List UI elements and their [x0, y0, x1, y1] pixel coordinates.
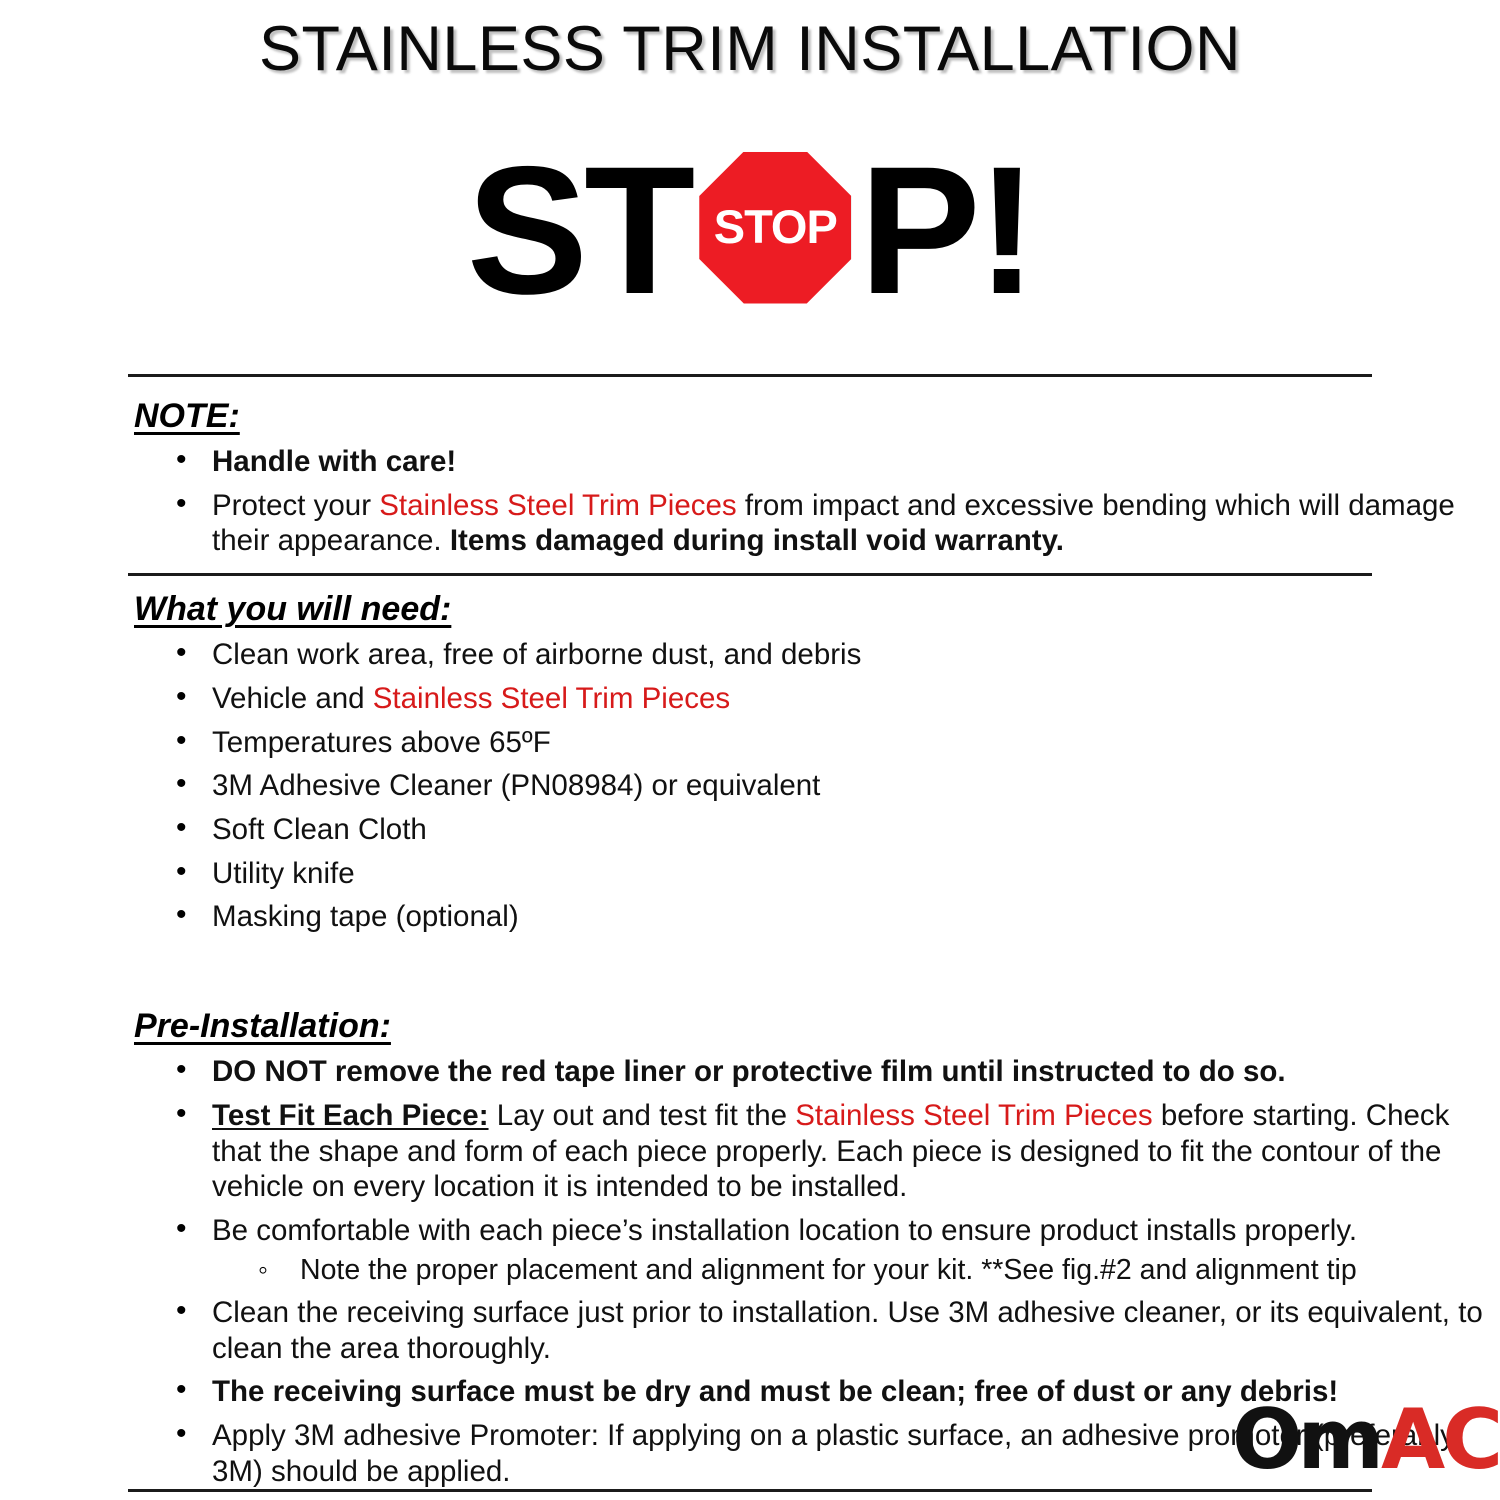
list-item: Masking tape (optional)	[0, 899, 1500, 935]
needs-section-header-row: What you will need:	[0, 590, 1500, 629]
list-item: Test Fit Each Piece: Lay out and test fi…	[0, 1098, 1500, 1205]
list-item: Handle with care!	[0, 444, 1500, 480]
list-item: Protect your Stainless Steel Trim Pieces…	[0, 488, 1500, 559]
text-run: Temperatures above 65ºF	[212, 726, 551, 759]
text-run: Protect your	[212, 489, 379, 522]
note-section-heading: NOTE:	[134, 397, 240, 436]
preinstall-sub-list: Note the proper placement and alignment …	[0, 1253, 1500, 1287]
preinstall-section-header-row: Pre-Installation:	[0, 1007, 1500, 1046]
list-item: Soft Clean Cloth	[0, 812, 1500, 848]
text-run: Vehicle and	[212, 682, 373, 715]
note-list: Handle with care!Protect your Stainless …	[0, 444, 1500, 559]
list-item: DO NOT remove the red tape liner or prot…	[0, 1054, 1500, 1090]
text-run: Items damaged during install void warran…	[450, 524, 1064, 557]
needs-list: Clean work area, free of airborne dust, …	[0, 637, 1500, 935]
list-item: 3M Adhesive Cleaner (PN08984) or equival…	[0, 768, 1500, 804]
document-body: NOTE: Handle with care!Protect your Stai…	[0, 397, 1500, 1490]
text-run: Stainless Steel Trim Pieces	[373, 682, 730, 715]
list-item: Utility knife	[0, 856, 1500, 892]
preinstall-section-heading: Pre-Installation:	[134, 1007, 391, 1046]
needs-section-heading: What you will need:	[134, 590, 451, 629]
text-run: Soft Clean Cloth	[212, 813, 427, 846]
stop-logo: ST STOP P!	[467, 143, 1034, 318]
divider-mid	[128, 573, 1372, 576]
list-item: Clean the receiving surface just prior t…	[0, 1295, 1500, 1366]
note-section-header-row: NOTE:	[0, 397, 1500, 436]
text-run: Note the proper placement and alignment …	[300, 1254, 1357, 1286]
text-run: Stainless Steel Trim Pieces	[379, 489, 736, 522]
stop-sign-icon: STOP	[699, 152, 851, 304]
stop-logo-banner: ST STOP P!	[0, 143, 1500, 318]
list-item: Be comfortable with each piece’s install…	[0, 1213, 1500, 1249]
omac-logo-dark-text: Om	[1232, 1406, 1379, 1474]
text-run: Test Fit Each Piece:	[212, 1099, 489, 1132]
omac-brand-logo: Om AC	[1232, 1406, 1500, 1474]
stop-logo-right-text: P!	[859, 146, 1033, 315]
sub-list-item: Note the proper placement and alignment …	[0, 1253, 1500, 1287]
list-item: Vehicle and Stainless Steel Trim Pieces	[0, 681, 1500, 717]
preinstall-list: DO NOT remove the red tape liner or prot…	[0, 1054, 1500, 1248]
divider-bottom	[128, 1489, 1372, 1492]
stop-logo-left-text: ST	[467, 146, 692, 315]
text-run: Masking tape (optional)	[212, 900, 519, 933]
text-run: Lay out and test fit the	[489, 1099, 796, 1132]
text-run: 3M Adhesive Cleaner (PN08984) or equival…	[212, 769, 820, 802]
text-run: Stainless Steel Trim Pieces	[795, 1099, 1152, 1132]
stop-sign-label: STOP	[714, 203, 837, 250]
page-title: STAINLESS TRIM INSTALLATION	[0, 0, 1500, 81]
omac-logo-red-text: AC	[1381, 1406, 1500, 1474]
text-run: The receiving surface must be dry and mu…	[212, 1375, 1338, 1408]
text-run: Handle with care!	[212, 445, 456, 478]
list-item: Clean work area, free of airborne dust, …	[0, 637, 1500, 673]
text-run: Utility knife	[212, 857, 355, 890]
divider-top	[128, 374, 1372, 377]
text-run: Clean the receiving surface just prior t…	[212, 1296, 1483, 1365]
list-item: Temperatures above 65ºF	[0, 725, 1500, 761]
text-run: Be comfortable with each piece’s install…	[212, 1214, 1357, 1247]
text-run: Clean work area, free of airborne dust, …	[212, 638, 861, 671]
text-run: DO NOT remove the red tape liner or prot…	[212, 1055, 1286, 1088]
